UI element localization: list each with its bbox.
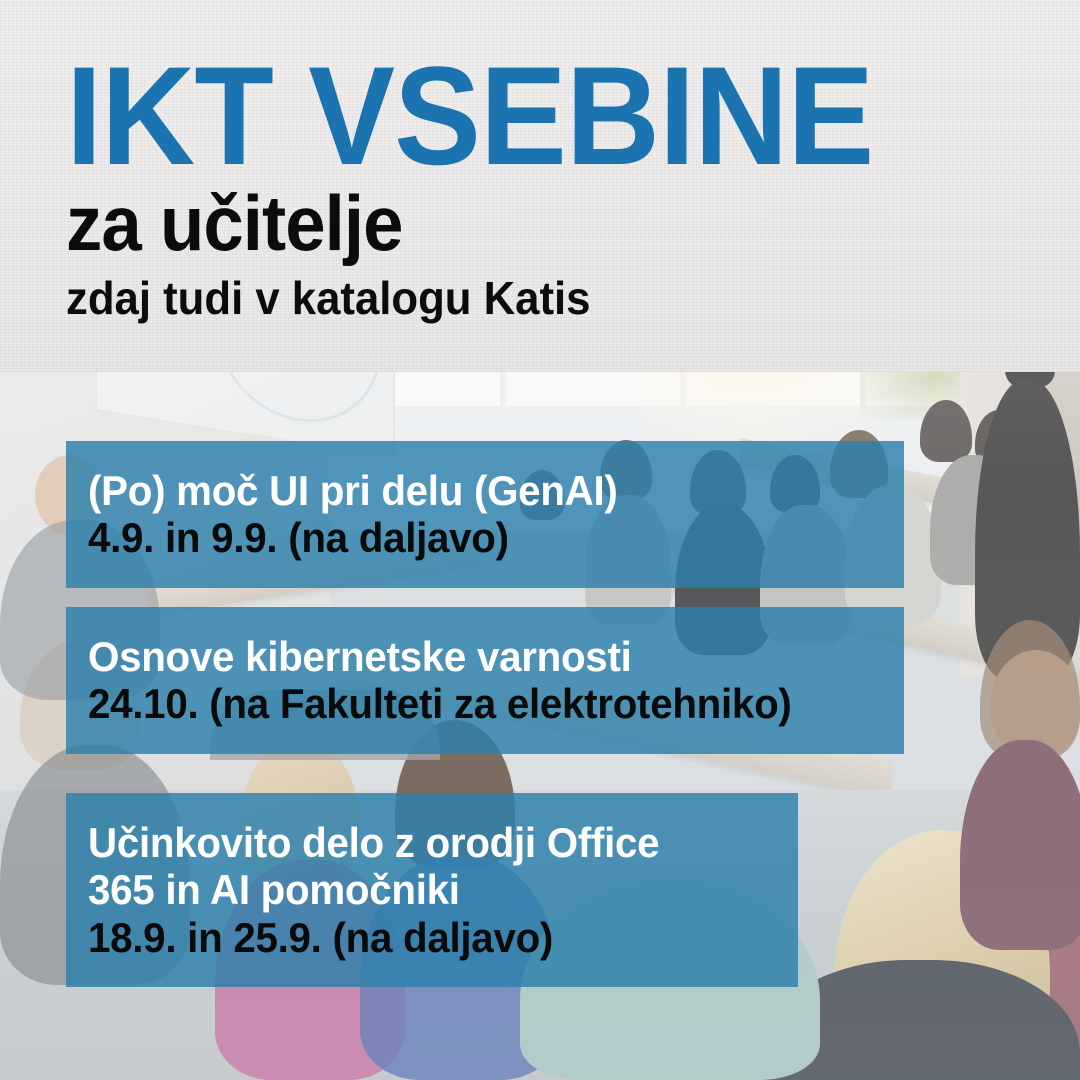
course-3-title-line-2: 365 in AI pomočniki xyxy=(88,866,737,913)
course-3-date: 18.9. in 25.9. (na daljavo) xyxy=(88,914,737,961)
course-card-3[interactable]: Učinkovito delo z orodji Office 365 in A… xyxy=(66,793,798,987)
course-2-date: 24.10. (na Fakulteti za elektrotehniko) xyxy=(88,680,839,727)
course-1-title: (Po) moč UI pri delu (GenAI) xyxy=(88,467,839,514)
course-3-title-line-1: Učinkovito delo z orodji Office xyxy=(88,819,737,866)
page-note: zdaj tudi v katalogu Katis xyxy=(66,275,590,321)
course-1-date: 4.9. in 9.9. (na daljavo) xyxy=(88,514,839,561)
page-title: IKT VSEBINE xyxy=(66,46,873,186)
header-band: IKT VSEBINE za učitelje zdaj tudi v kata… xyxy=(0,0,1080,372)
course-card-1[interactable]: (Po) moč UI pri delu (GenAI) 4.9. in 9.9… xyxy=(66,441,904,588)
course-card-2[interactable]: Osnove kibernetske varnosti 24.10. (na F… xyxy=(66,607,904,754)
foreground-person-body xyxy=(960,740,1080,950)
course-2-title: Osnove kibernetske varnosti xyxy=(88,633,839,680)
page-subtitle: za učitelje xyxy=(66,184,403,262)
poster-root: Kibernetski prostor xyxy=(0,0,1080,1080)
